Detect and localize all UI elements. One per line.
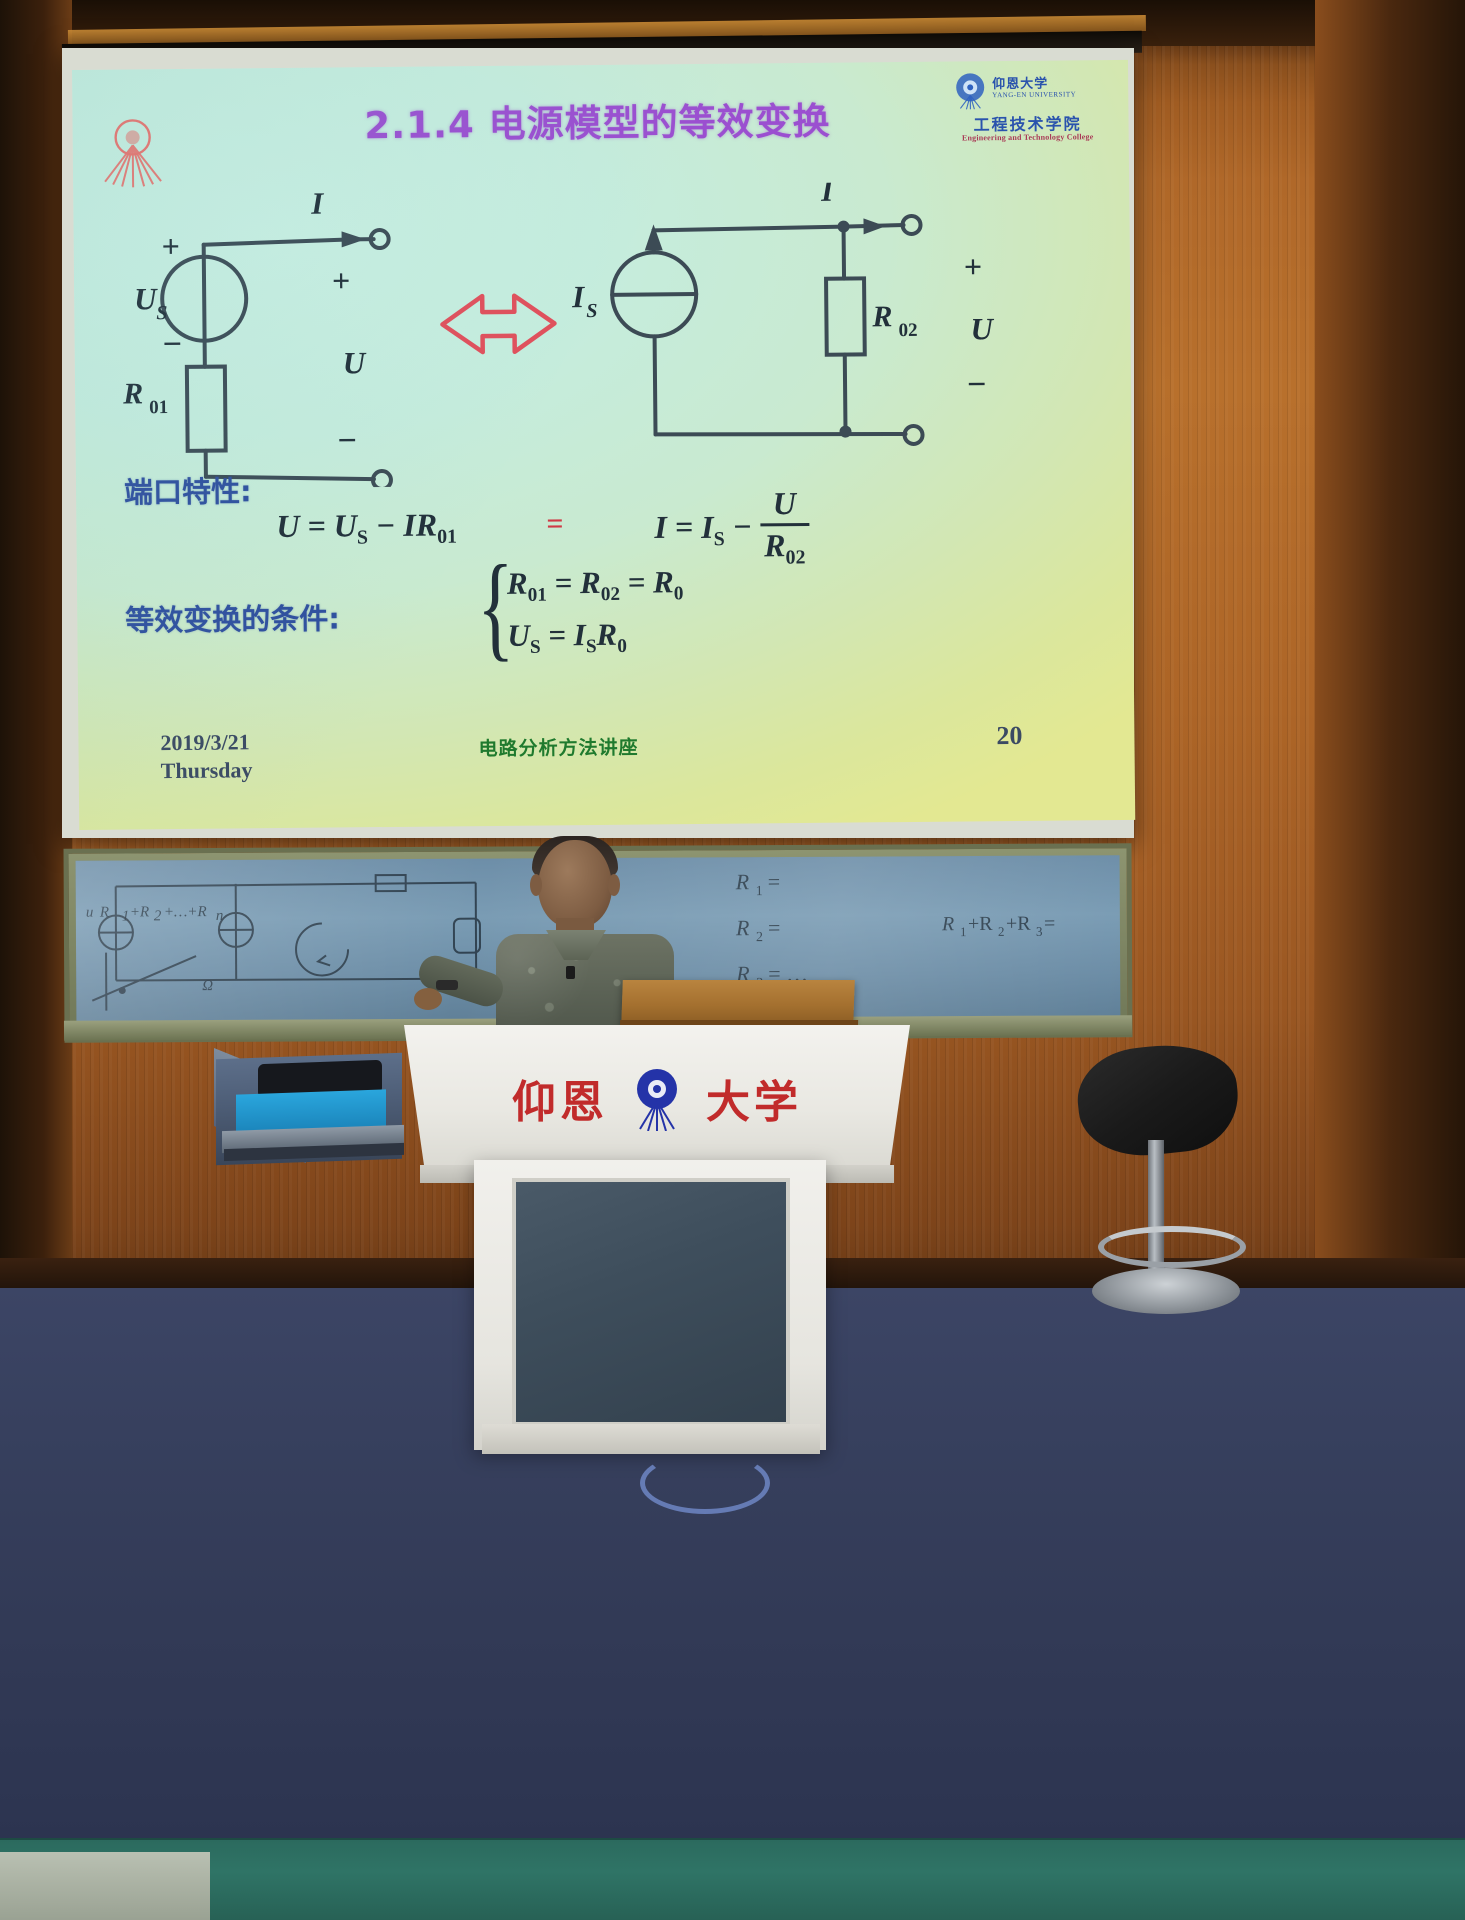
presenter-wristwatch <box>436 980 458 990</box>
podium-control-screen[interactable] <box>512 1178 790 1426</box>
presenter-ear-right <box>608 874 620 896</box>
presenter-hand-left <box>414 988 442 1010</box>
svg-text:S: S <box>586 300 597 322</box>
port-characteristics-right-equation: I = IS − U R02 <box>654 487 810 573</box>
svg-text:U: U <box>134 281 158 316</box>
presenter-head <box>538 840 612 928</box>
university-name-cn: 仰恩大学 <box>992 73 1048 93</box>
svg-text:+: + <box>162 228 181 264</box>
port-characteristics-label: 端口特性: <box>124 468 252 511</box>
svg-text:−: − <box>967 366 987 403</box>
floor-front-strip <box>0 1840 1465 1920</box>
svg-text:−: − <box>337 422 357 459</box>
footer-weekday-text: Thursday <box>161 756 253 784</box>
slide-footer-date: 2019/3/21 Thursday <box>160 728 252 784</box>
svg-text:01: 01 <box>149 397 168 418</box>
podium-cable <box>640 1452 770 1514</box>
bar-stool-footring <box>1098 1226 1246 1268</box>
svg-text:I: I <box>571 279 585 314</box>
condition-line-1: R01 = R02 = R0 <box>507 564 684 607</box>
podium-branding: 仰恩 大学 <box>404 1042 910 1154</box>
wall-right-shadow <box>1315 0 1465 1290</box>
condition-line-2: US = ISR0 <box>507 617 627 659</box>
svg-text:+: + <box>964 248 983 284</box>
slide-title: 2.1.4 电源模型的等效变换 <box>277 90 917 150</box>
yang-en-university-mark-icon <box>950 69 990 109</box>
projected-slide: 2.1.4 电源模型的等效变换 仰恩大学 YANG <box>72 60 1135 830</box>
podium-logo-text-right: 大学 <box>706 1066 802 1130</box>
svg-text:U: U <box>970 311 994 346</box>
slide-footer-center: 电路分析方法讲座 <box>478 733 638 762</box>
floor-mat <box>0 1852 210 1920</box>
svg-text:02: 02 <box>898 320 917 341</box>
footer-date-text: 2019/3/21 <box>160 728 252 756</box>
circuit-diagram-area: I U S + − R 01 + U − <box>73 180 1132 490</box>
bar-stool-base <box>1092 1268 1240 1314</box>
equivalence-conditions-label: 等效变换的条件: <box>125 595 340 639</box>
podium-logo-text-left: 仰恩 <box>512 1066 608 1130</box>
svg-text:R: R <box>122 377 143 410</box>
presenter-ear-left <box>530 874 542 896</box>
svg-text:I: I <box>820 180 834 208</box>
port-characteristics-left-equation: U = US − IR01 <box>276 506 457 550</box>
clip-microphone-icon <box>566 966 575 979</box>
sun-rays-logo <box>94 111 171 188</box>
svg-text:R: R <box>871 300 892 333</box>
slide-page-number: 20 <box>996 721 1022 751</box>
yang-en-university-emblem-icon <box>624 1065 690 1131</box>
svg-text:S: S <box>156 302 167 324</box>
lecture-hall-scene: 2.1.4 电源模型的等效变换 仰恩大学 YANG <box>0 0 1465 1920</box>
college-name-en: Engineering and Technology College <box>939 132 1117 143</box>
svg-text:U: U <box>343 345 367 380</box>
svg-text:−: − <box>162 326 182 363</box>
university-logo: 仰恩大学 YANG-EN UNIVERSITY 工程技术学院 Engineeri… <box>932 66 1119 160</box>
equals-sign-red: = <box>546 507 563 541</box>
svg-text:+: + <box>332 262 351 298</box>
svg-text:I: I <box>310 186 324 221</box>
university-name-en: YANG-EN UNIVERSITY <box>992 90 1076 99</box>
podium-base <box>482 1424 820 1454</box>
